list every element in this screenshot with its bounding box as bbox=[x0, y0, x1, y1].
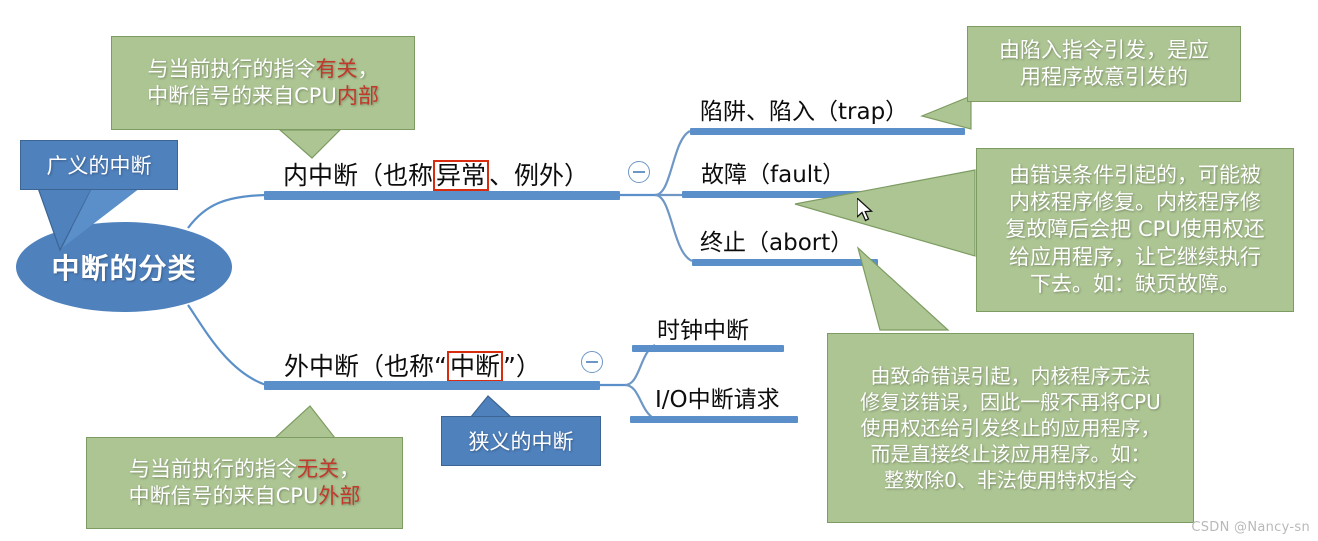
external-note-line-1: 与当前执行的指令无关， bbox=[129, 456, 360, 483]
external-note-tail bbox=[275, 406, 335, 438]
narrow-interrupt-label: 狭义的中断 bbox=[469, 426, 574, 456]
fault-note-line-1: 由错误条件引起的，可能被 bbox=[1009, 162, 1261, 189]
internal-note-line-2: 中断信号的来自CPU内部 bbox=[147, 83, 379, 110]
external-interrupt-note[interactable]: 与当前执行的指令无关， 中断信号的来自CPU外部 bbox=[86, 437, 403, 529]
fault-note[interactable]: 由错误条件引起的，可能被 内核程序修复。内核程序修 复故障后会把 CPU使用权还… bbox=[976, 148, 1294, 312]
narrow-interrupt-tail bbox=[470, 396, 512, 418]
external-note-highlight-1: 无关 bbox=[297, 457, 339, 481]
fault-note-line-3: 复故障后会把 CPU使用权还 bbox=[1005, 216, 1264, 243]
mindmap-canvas: 中断的分类 广义的中断 狭义的中断 与当前执行的指令有关， 中断信号的来自CPU… bbox=[0, 0, 1318, 541]
internal-note-line-1: 与当前执行的指令有关， bbox=[148, 56, 379, 83]
fault-note-tail bbox=[795, 170, 975, 256]
trap-note-tail bbox=[922, 96, 971, 129]
internal-note-highlight-1: 有关 bbox=[316, 57, 358, 81]
internal-note-highlight-2: 内部 bbox=[337, 84, 379, 108]
trap-note-line-1: 由陷入指令引发，是应 bbox=[999, 37, 1209, 64]
abort-note-tail bbox=[858, 248, 948, 330]
abort-note[interactable]: 由致命错误引起，内核程序无法 修复该错误，因此一般不再将CPU 使用权还给引发终… bbox=[827, 333, 1194, 523]
fault-note-line-2: 内核程序修复。内核程序修 bbox=[1009, 189, 1261, 216]
abort-note-line-5: 整数除0、非法使用特权指令 bbox=[884, 467, 1137, 493]
abort-note-line-3: 使用权还给引发终止的应用程序， bbox=[861, 415, 1161, 441]
abort-note-line-2: 修复该错误，因此一般不再将CPU bbox=[860, 389, 1161, 415]
broad-interrupt-label: 广义的中断 bbox=[47, 150, 152, 180]
abort-note-line-1: 由致命错误引起，内核程序无法 bbox=[871, 363, 1151, 389]
fault-note-line-5: 下去。如：缺页故障。 bbox=[1030, 271, 1240, 298]
abort-note-line-4: 而是直接终止该应用程序。如： bbox=[871, 441, 1151, 467]
internal-interrupt-note[interactable]: 与当前执行的指令有关， 中断信号的来自CPU内部 bbox=[111, 36, 415, 130]
fault-note-line-4: 给应用程序，让它继续执行 bbox=[1009, 244, 1261, 271]
external-note-line-2: 中断信号的来自CPU外部 bbox=[129, 483, 361, 510]
trap-note[interactable]: 由陷入指令引发，是应 用程序故意引发的 bbox=[967, 26, 1241, 102]
watermark: CSDN @Nancy-sn bbox=[1191, 520, 1310, 535]
internal-note-tail bbox=[280, 130, 340, 158]
external-note-highlight-2: 外部 bbox=[318, 484, 360, 508]
narrow-interrupt-callout[interactable]: 狭义的中断 bbox=[441, 416, 601, 466]
trap-note-line-2: 用程序故意引发的 bbox=[1020, 64, 1188, 91]
mouse-cursor-icon bbox=[857, 198, 875, 224]
broad-interrupt-callout[interactable]: 广义的中断 bbox=[20, 140, 178, 190]
